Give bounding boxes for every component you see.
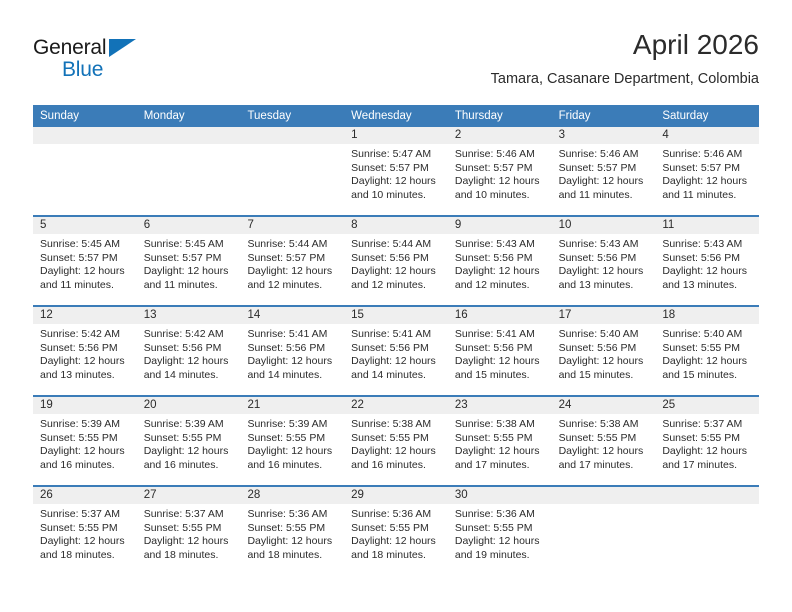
day-sunrise-text: Sunrise: 5:46 AM bbox=[662, 148, 752, 162]
day-daylight-text: Daylight: 12 hours bbox=[351, 355, 441, 369]
day-cell[interactable]: Sunrise: 5:38 AMSunset: 5:55 PMDaylight:… bbox=[344, 414, 448, 485]
day-daylight-text: and 11 minutes. bbox=[662, 189, 752, 203]
day-sunset-text: Sunset: 5:55 PM bbox=[144, 522, 234, 536]
weekday-header-friday: Friday bbox=[552, 105, 656, 127]
day-number[interactable]: 3 bbox=[552, 127, 656, 144]
day-cell[interactable]: Sunrise: 5:43 AMSunset: 5:56 PMDaylight:… bbox=[448, 234, 552, 305]
calendar-grid: SundayMondayTuesdayWednesdayThursdayFrid… bbox=[33, 105, 759, 575]
day-cell[interactable]: Sunrise: 5:39 AMSunset: 5:55 PMDaylight:… bbox=[240, 414, 344, 485]
day-number[interactable]: 7 bbox=[240, 217, 344, 234]
day-sunset-text: Sunset: 5:56 PM bbox=[351, 252, 441, 266]
day-number[interactable]: 9 bbox=[448, 217, 552, 234]
day-number-band: 2627282930 bbox=[33, 487, 759, 504]
calendar-weeks: 1234Sunrise: 5:47 AMSunset: 5:57 PMDayli… bbox=[33, 127, 759, 575]
calendar-week-row: 19202122232425Sunrise: 5:39 AMSunset: 5:… bbox=[33, 395, 759, 485]
day-number-band: 1234 bbox=[33, 127, 759, 144]
day-daylight-text: and 11 minutes. bbox=[559, 189, 649, 203]
day-daylight-text: Daylight: 12 hours bbox=[662, 265, 752, 279]
day-daylight-text: Daylight: 12 hours bbox=[455, 175, 545, 189]
logo-triangle-icon bbox=[109, 39, 136, 57]
day-sunrise-text: Sunrise: 5:44 AM bbox=[351, 238, 441, 252]
day-daylight-text: Daylight: 12 hours bbox=[144, 265, 234, 279]
day-cell[interactable]: Sunrise: 5:45 AMSunset: 5:57 PMDaylight:… bbox=[137, 234, 241, 305]
day-cell[interactable]: Sunrise: 5:39 AMSunset: 5:55 PMDaylight:… bbox=[137, 414, 241, 485]
day-sunset-text: Sunset: 5:55 PM bbox=[144, 432, 234, 446]
day-number[interactable]: 14 bbox=[240, 307, 344, 324]
day-sunrise-text: Sunrise: 5:40 AM bbox=[559, 328, 649, 342]
day-daylight-text: and 10 minutes. bbox=[455, 189, 545, 203]
day-sunset-text: Sunset: 5:57 PM bbox=[455, 162, 545, 176]
day-sunrise-text: Sunrise: 5:39 AM bbox=[40, 418, 130, 432]
day-sunrise-text: Sunrise: 5:46 AM bbox=[559, 148, 649, 162]
day-cell[interactable]: Sunrise: 5:43 AMSunset: 5:56 PMDaylight:… bbox=[552, 234, 656, 305]
day-sunrise-text: Sunrise: 5:37 AM bbox=[662, 418, 752, 432]
day-daylight-text: Daylight: 12 hours bbox=[662, 175, 752, 189]
day-daylight-text: and 15 minutes. bbox=[559, 369, 649, 383]
day-sunrise-text: Sunrise: 5:45 AM bbox=[144, 238, 234, 252]
day-daylight-text: Daylight: 12 hours bbox=[247, 355, 337, 369]
day-number[interactable]: 16 bbox=[448, 307, 552, 324]
day-number[interactable]: 25 bbox=[655, 397, 759, 414]
day-number[interactable]: 10 bbox=[552, 217, 656, 234]
logo-text-blue: Blue bbox=[62, 58, 103, 82]
day-cell[interactable]: Sunrise: 5:41 AMSunset: 5:56 PMDaylight:… bbox=[448, 324, 552, 395]
day-sunrise-text: Sunrise: 5:45 AM bbox=[40, 238, 130, 252]
day-daylight-text: Daylight: 12 hours bbox=[559, 265, 649, 279]
day-sunrise-text: Sunrise: 5:36 AM bbox=[351, 508, 441, 522]
day-number[interactable]: 19 bbox=[33, 397, 137, 414]
day-daylight-text: Daylight: 12 hours bbox=[662, 445, 752, 459]
weekday-header-thursday: Thursday bbox=[448, 105, 552, 127]
day-sunrise-text: Sunrise: 5:43 AM bbox=[455, 238, 545, 252]
day-daylight-text: and 16 minutes. bbox=[40, 459, 130, 473]
day-daylight-text: and 12 minutes. bbox=[351, 279, 441, 293]
day-sunrise-text: Sunrise: 5:39 AM bbox=[247, 418, 337, 432]
day-sunset-text: Sunset: 5:55 PM bbox=[455, 432, 545, 446]
day-daylight-text: and 12 minutes. bbox=[455, 279, 545, 293]
weekday-header-wednesday: Wednesday bbox=[344, 105, 448, 127]
day-cell[interactable]: Sunrise: 5:47 AMSunset: 5:57 PMDaylight:… bbox=[344, 144, 448, 215]
day-daylight-text: Daylight: 12 hours bbox=[455, 445, 545, 459]
day-sunrise-text: Sunrise: 5:36 AM bbox=[247, 508, 337, 522]
day-sunrise-text: Sunrise: 5:38 AM bbox=[351, 418, 441, 432]
day-sunset-text: Sunset: 5:57 PM bbox=[40, 252, 130, 266]
day-daylight-text: and 17 minutes. bbox=[559, 459, 649, 473]
weekday-header-row: SundayMondayTuesdayWednesdayThursdayFrid… bbox=[33, 105, 759, 127]
page-title: April 2026 bbox=[491, 28, 759, 62]
day-sunset-text: Sunset: 5:55 PM bbox=[662, 342, 752, 356]
day-cell[interactable]: Sunrise: 5:46 AMSunset: 5:57 PMDaylight:… bbox=[552, 144, 656, 215]
day-sunrise-text: Sunrise: 5:41 AM bbox=[455, 328, 545, 342]
day-sunset-text: Sunset: 5:57 PM bbox=[247, 252, 337, 266]
day-number[interactable]: 22 bbox=[344, 397, 448, 414]
day-sunrise-text: Sunrise: 5:43 AM bbox=[662, 238, 752, 252]
day-number[interactable]: 18 bbox=[655, 307, 759, 324]
day-daylight-text: Daylight: 12 hours bbox=[144, 355, 234, 369]
day-daylight-text: and 15 minutes. bbox=[455, 369, 545, 383]
day-cell[interactable]: Sunrise: 5:40 AMSunset: 5:56 PMDaylight:… bbox=[552, 324, 656, 395]
day-number-band: 12131415161718 bbox=[33, 307, 759, 324]
day-daylight-text: and 17 minutes. bbox=[662, 459, 752, 473]
weekday-header-tuesday: Tuesday bbox=[240, 105, 344, 127]
day-sunrise-text: Sunrise: 5:40 AM bbox=[662, 328, 752, 342]
day-cell[interactable]: Sunrise: 5:44 AMSunset: 5:57 PMDaylight:… bbox=[240, 234, 344, 305]
day-sunset-text: Sunset: 5:56 PM bbox=[351, 342, 441, 356]
day-sunrise-text: Sunrise: 5:44 AM bbox=[247, 238, 337, 252]
general-blue-logo: General Blue bbox=[33, 36, 173, 84]
day-number[interactable]: 20 bbox=[137, 397, 241, 414]
day-cell[interactable]: Sunrise: 5:44 AMSunset: 5:56 PMDaylight:… bbox=[344, 234, 448, 305]
day-daylight-text: and 14 minutes. bbox=[351, 369, 441, 383]
day-daylight-text: Daylight: 12 hours bbox=[144, 535, 234, 549]
day-cell[interactable]: Sunrise: 5:36 AMSunset: 5:55 PMDaylight:… bbox=[240, 504, 344, 575]
day-daylight-text: and 11 minutes. bbox=[40, 279, 130, 293]
day-cell-empty bbox=[137, 144, 241, 215]
day-cell[interactable]: Sunrise: 5:41 AMSunset: 5:56 PMDaylight:… bbox=[240, 324, 344, 395]
day-number[interactable]: 21 bbox=[240, 397, 344, 414]
day-daylight-text: Daylight: 12 hours bbox=[40, 265, 130, 279]
day-cell[interactable]: Sunrise: 5:41 AMSunset: 5:56 PMDaylight:… bbox=[344, 324, 448, 395]
weekday-header-saturday: Saturday bbox=[655, 105, 759, 127]
day-number[interactable]: 23 bbox=[448, 397, 552, 414]
calendar-page: General Blue April 2026 Tamara, Casanare… bbox=[0, 0, 792, 612]
day-number[interactable]: 12 bbox=[33, 307, 137, 324]
day-number[interactable]: 8 bbox=[344, 217, 448, 234]
logo-text-general: General bbox=[33, 36, 106, 60]
day-daylight-text: and 18 minutes. bbox=[144, 549, 234, 563]
day-number-band: 19202122232425 bbox=[33, 397, 759, 414]
day-detail-band: Sunrise: 5:42 AMSunset: 5:56 PMDaylight:… bbox=[33, 324, 759, 395]
page-subtitle: Tamara, Casanare Department, Colombia bbox=[491, 70, 759, 88]
day-daylight-text: and 10 minutes. bbox=[351, 189, 441, 203]
day-cell[interactable]: Sunrise: 5:37 AMSunset: 5:55 PMDaylight:… bbox=[33, 504, 137, 575]
day-daylight-text: and 14 minutes. bbox=[247, 369, 337, 383]
day-sunrise-text: Sunrise: 5:38 AM bbox=[559, 418, 649, 432]
day-daylight-text: and 13 minutes. bbox=[662, 279, 752, 293]
day-cell[interactable]: Sunrise: 5:37 AMSunset: 5:55 PMDaylight:… bbox=[655, 414, 759, 485]
day-number[interactable]: 13 bbox=[137, 307, 241, 324]
day-sunset-text: Sunset: 5:56 PM bbox=[662, 252, 752, 266]
day-detail-band: Sunrise: 5:37 AMSunset: 5:55 PMDaylight:… bbox=[33, 504, 759, 575]
day-number[interactable]: 29 bbox=[344, 487, 448, 504]
day-daylight-text: and 16 minutes. bbox=[144, 459, 234, 473]
day-number[interactable]: 28 bbox=[240, 487, 344, 504]
day-cell[interactable]: Sunrise: 5:36 AMSunset: 5:55 PMDaylight:… bbox=[448, 504, 552, 575]
day-daylight-text: Daylight: 12 hours bbox=[455, 355, 545, 369]
day-sunset-text: Sunset: 5:55 PM bbox=[559, 432, 649, 446]
day-daylight-text: and 15 minutes. bbox=[662, 369, 752, 383]
day-sunset-text: Sunset: 5:56 PM bbox=[247, 342, 337, 356]
day-number[interactable]: 11 bbox=[655, 217, 759, 234]
weekday-header-sunday: Sunday bbox=[33, 105, 137, 127]
day-daylight-text: and 17 minutes. bbox=[455, 459, 545, 473]
day-sunrise-text: Sunrise: 5:36 AM bbox=[455, 508, 545, 522]
day-daylight-text: and 13 minutes. bbox=[40, 369, 130, 383]
day-number[interactable]: 4 bbox=[655, 127, 759, 144]
day-number[interactable]: 2 bbox=[448, 127, 552, 144]
day-daylight-text: Daylight: 12 hours bbox=[455, 535, 545, 549]
day-sunset-text: Sunset: 5:57 PM bbox=[662, 162, 752, 176]
day-sunset-text: Sunset: 5:56 PM bbox=[559, 252, 649, 266]
day-number[interactable]: 1 bbox=[344, 127, 448, 144]
day-number[interactable]: 17 bbox=[552, 307, 656, 324]
day-daylight-text: Daylight: 12 hours bbox=[247, 535, 337, 549]
calendar-week-row: 2627282930Sunrise: 5:37 AMSunset: 5:55 P… bbox=[33, 485, 759, 575]
day-daylight-text: and 14 minutes. bbox=[144, 369, 234, 383]
day-cell[interactable]: Sunrise: 5:36 AMSunset: 5:55 PMDaylight:… bbox=[344, 504, 448, 575]
calendar-week-row: 1234Sunrise: 5:47 AMSunset: 5:57 PMDayli… bbox=[33, 127, 759, 215]
day-daylight-text: Daylight: 12 hours bbox=[247, 265, 337, 279]
day-number[interactable]: 26 bbox=[33, 487, 137, 504]
day-daylight-text: and 19 minutes. bbox=[455, 549, 545, 563]
day-cell[interactable]: Sunrise: 5:42 AMSunset: 5:56 PMDaylight:… bbox=[137, 324, 241, 395]
day-number[interactable]: 30 bbox=[448, 487, 552, 504]
day-cell[interactable]: Sunrise: 5:37 AMSunset: 5:55 PMDaylight:… bbox=[137, 504, 241, 575]
day-cell-empty bbox=[655, 504, 759, 575]
day-daylight-text: Daylight: 12 hours bbox=[455, 265, 545, 279]
day-sunset-text: Sunset: 5:56 PM bbox=[455, 252, 545, 266]
day-daylight-text: and 13 minutes. bbox=[559, 279, 649, 293]
weekday-header-monday: Monday bbox=[137, 105, 241, 127]
day-sunrise-text: Sunrise: 5:47 AM bbox=[351, 148, 441, 162]
day-cell[interactable]: Sunrise: 5:45 AMSunset: 5:57 PMDaylight:… bbox=[33, 234, 137, 305]
day-sunrise-text: Sunrise: 5:37 AM bbox=[40, 508, 130, 522]
day-number-empty bbox=[552, 487, 656, 504]
day-daylight-text: and 16 minutes. bbox=[351, 459, 441, 473]
day-sunset-text: Sunset: 5:56 PM bbox=[455, 342, 545, 356]
day-sunset-text: Sunset: 5:55 PM bbox=[662, 432, 752, 446]
day-number[interactable]: 24 bbox=[552, 397, 656, 414]
page-header: General Blue April 2026 Tamara, Casanare… bbox=[33, 28, 759, 100]
day-sunrise-text: Sunrise: 5:39 AM bbox=[144, 418, 234, 432]
day-cell[interactable]: Sunrise: 5:40 AMSunset: 5:55 PMDaylight:… bbox=[655, 324, 759, 395]
day-daylight-text: and 11 minutes. bbox=[144, 279, 234, 293]
day-number[interactable]: 5 bbox=[33, 217, 137, 234]
day-sunset-text: Sunset: 5:55 PM bbox=[247, 522, 337, 536]
day-number[interactable]: 27 bbox=[137, 487, 241, 504]
day-sunrise-text: Sunrise: 5:42 AM bbox=[144, 328, 234, 342]
day-detail-band: Sunrise: 5:39 AMSunset: 5:55 PMDaylight:… bbox=[33, 414, 759, 485]
day-daylight-text: and 18 minutes. bbox=[351, 549, 441, 563]
day-cell[interactable]: Sunrise: 5:46 AMSunset: 5:57 PMDaylight:… bbox=[448, 144, 552, 215]
day-daylight-text: Daylight: 12 hours bbox=[662, 355, 752, 369]
day-daylight-text: Daylight: 12 hours bbox=[40, 445, 130, 459]
day-number-band: 567891011 bbox=[33, 217, 759, 234]
day-daylight-text: Daylight: 12 hours bbox=[144, 445, 234, 459]
day-sunset-text: Sunset: 5:55 PM bbox=[351, 432, 441, 446]
day-number[interactable]: 15 bbox=[344, 307, 448, 324]
day-cell-empty bbox=[552, 504, 656, 575]
calendar-week-row: 567891011Sunrise: 5:45 AMSunset: 5:57 PM… bbox=[33, 215, 759, 305]
day-daylight-text: Daylight: 12 hours bbox=[351, 535, 441, 549]
day-sunset-text: Sunset: 5:57 PM bbox=[351, 162, 441, 176]
day-daylight-text: Daylight: 12 hours bbox=[559, 445, 649, 459]
day-sunset-text: Sunset: 5:55 PM bbox=[40, 432, 130, 446]
day-daylight-text: Daylight: 12 hours bbox=[559, 355, 649, 369]
day-daylight-text: Daylight: 12 hours bbox=[247, 445, 337, 459]
title-block: April 2026 Tamara, Casanare Department, … bbox=[491, 28, 759, 88]
day-cell[interactable]: Sunrise: 5:39 AMSunset: 5:55 PMDaylight:… bbox=[33, 414, 137, 485]
day-cell-empty bbox=[240, 144, 344, 215]
day-sunrise-text: Sunrise: 5:37 AM bbox=[144, 508, 234, 522]
day-detail-band: Sunrise: 5:45 AMSunset: 5:57 PMDaylight:… bbox=[33, 234, 759, 305]
day-number-empty bbox=[655, 487, 759, 504]
day-number-empty bbox=[240, 127, 344, 144]
day-daylight-text: and 18 minutes. bbox=[40, 549, 130, 563]
day-daylight-text: Daylight: 12 hours bbox=[351, 175, 441, 189]
calendar-week-row: 12131415161718Sunrise: 5:42 AMSunset: 5:… bbox=[33, 305, 759, 395]
day-sunrise-text: Sunrise: 5:42 AM bbox=[40, 328, 130, 342]
day-detail-band: Sunrise: 5:47 AMSunset: 5:57 PMDaylight:… bbox=[33, 144, 759, 215]
day-daylight-text: Daylight: 12 hours bbox=[40, 355, 130, 369]
day-sunset-text: Sunset: 5:56 PM bbox=[144, 342, 234, 356]
day-daylight-text: Daylight: 12 hours bbox=[40, 535, 130, 549]
day-sunrise-text: Sunrise: 5:38 AM bbox=[455, 418, 545, 432]
day-daylight-text: Daylight: 12 hours bbox=[351, 265, 441, 279]
day-cell[interactable]: Sunrise: 5:42 AMSunset: 5:56 PMDaylight:… bbox=[33, 324, 137, 395]
day-sunrise-text: Sunrise: 5:41 AM bbox=[351, 328, 441, 342]
day-sunset-text: Sunset: 5:55 PM bbox=[351, 522, 441, 536]
day-sunrise-text: Sunrise: 5:46 AM bbox=[455, 148, 545, 162]
day-number-empty bbox=[33, 127, 137, 144]
day-daylight-text: and 18 minutes. bbox=[247, 549, 337, 563]
day-sunset-text: Sunset: 5:57 PM bbox=[144, 252, 234, 266]
day-cell[interactable]: Sunrise: 5:43 AMSunset: 5:56 PMDaylight:… bbox=[655, 234, 759, 305]
day-daylight-text: and 16 minutes. bbox=[247, 459, 337, 473]
day-sunset-text: Sunset: 5:55 PM bbox=[455, 522, 545, 536]
day-daylight-text: Daylight: 12 hours bbox=[559, 175, 649, 189]
day-sunset-text: Sunset: 5:55 PM bbox=[247, 432, 337, 446]
day-daylight-text: Daylight: 12 hours bbox=[351, 445, 441, 459]
day-cell[interactable]: Sunrise: 5:38 AMSunset: 5:55 PMDaylight:… bbox=[448, 414, 552, 485]
day-cell[interactable]: Sunrise: 5:38 AMSunset: 5:55 PMDaylight:… bbox=[552, 414, 656, 485]
day-sunrise-text: Sunrise: 5:43 AM bbox=[559, 238, 649, 252]
day-sunset-text: Sunset: 5:57 PM bbox=[559, 162, 649, 176]
day-number[interactable]: 6 bbox=[137, 217, 241, 234]
day-sunset-text: Sunset: 5:56 PM bbox=[40, 342, 130, 356]
day-sunset-text: Sunset: 5:56 PM bbox=[559, 342, 649, 356]
day-cell[interactable]: Sunrise: 5:46 AMSunset: 5:57 PMDaylight:… bbox=[655, 144, 759, 215]
day-number-empty bbox=[137, 127, 241, 144]
day-sunrise-text: Sunrise: 5:41 AM bbox=[247, 328, 337, 342]
day-cell-empty bbox=[33, 144, 137, 215]
day-sunset-text: Sunset: 5:55 PM bbox=[40, 522, 130, 536]
day-daylight-text: and 12 minutes. bbox=[247, 279, 337, 293]
